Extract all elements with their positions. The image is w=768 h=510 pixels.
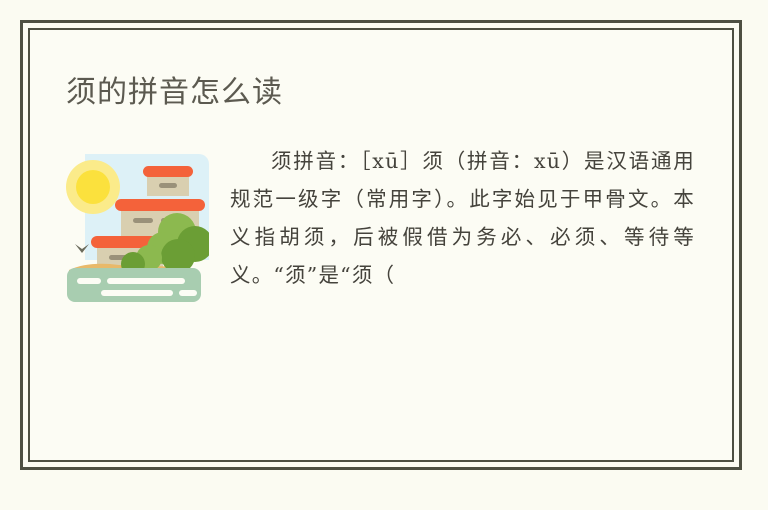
illustration-svg — [59, 154, 209, 304]
article-body: 须拼音：［xū］须（拼音：xū）是汉语通用规范一级字（常用字）。此字始见于甲骨文… — [230, 142, 695, 294]
content-area: 须拼音：［xū］须（拼音：xū）是汉语通用规范一级字（常用字）。此字始见于甲骨文… — [30, 142, 732, 460]
page-title: 须的拼音怎么读 — [66, 73, 283, 113]
page-frame-inner: 须的拼音怎么读 — [28, 28, 734, 462]
pagoda-landscape-illustration — [59, 154, 209, 304]
page-frame-outer: 须的拼音怎么读 — [20, 20, 742, 470]
